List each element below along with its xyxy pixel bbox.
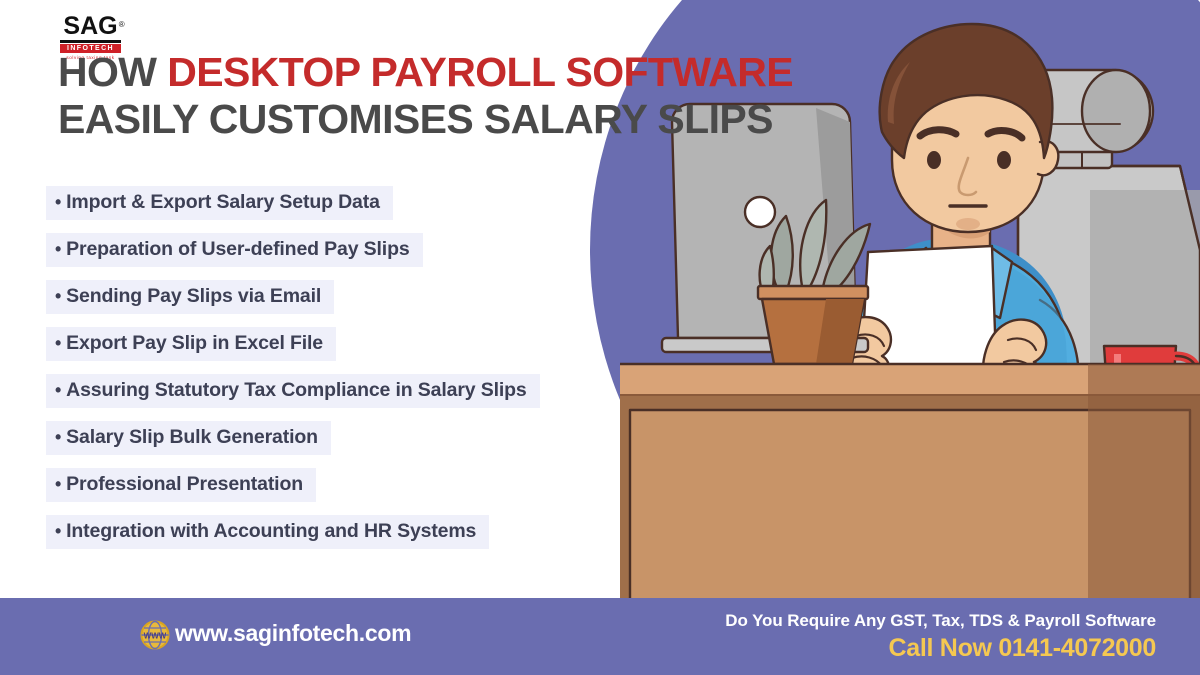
list-item: •Export Pay Slip in Excel File (46, 327, 540, 361)
headline-line-1: HOW DESKTOP PAYROLL SOFTWARE (58, 52, 793, 93)
bullet-dot-icon: • (55, 427, 61, 447)
bullet-label: Professional Presentation (66, 473, 303, 495)
bullet-chip: •Sending Pay Slips via Email (46, 280, 334, 314)
bullet-dot-icon: • (55, 474, 61, 494)
bullet-dot-icon: • (55, 333, 61, 353)
bullet-label: Import & Export Salary Setup Data (66, 191, 380, 213)
bullet-chip: •Professional Presentation (46, 468, 316, 502)
cta-block: Do You Require Any GST, Tax, TDS & Payro… (725, 611, 1156, 663)
feature-bullet-list: •Import & Export Salary Setup Data •Prep… (46, 186, 540, 562)
svg-text:WWW: WWW (144, 631, 167, 640)
globe-www-icon: WWW (140, 620, 170, 655)
list-item: •Integration with Accounting and HR Syst… (46, 515, 540, 549)
headline-plain-text: HOW (58, 49, 167, 95)
bullet-chip: •Export Pay Slip in Excel File (46, 327, 336, 361)
bullet-chip: •Integration with Accounting and HR Syst… (46, 515, 489, 549)
bullet-chip: •Preparation of User-defined Pay Slips (46, 233, 423, 267)
bullet-label: Preparation of User-defined Pay Slips (66, 238, 409, 260)
bullet-label: Integration with Accounting and HR Syste… (66, 520, 476, 542)
bullet-dot-icon: • (55, 286, 61, 306)
list-item: •Assuring Statutory Tax Compliance in Sa… (46, 374, 540, 408)
list-item: •Import & Export Salary Setup Data (46, 186, 540, 220)
list-item: •Sending Pay Slips via Email (46, 280, 540, 314)
bullet-chip: •Salary Slip Bulk Generation (46, 421, 331, 455)
wooden-desk (620, 364, 1200, 600)
bullet-label: Salary Slip Bulk Generation (66, 426, 318, 448)
website-url[interactable]: www.saginfotech.com (175, 620, 411, 647)
bullet-chip: •Assuring Statutory Tax Compliance in Sa… (46, 374, 540, 408)
logo-divider-bar (60, 40, 121, 43)
logo-name-text: SAG (63, 12, 117, 40)
bullet-label: Export Pay Slip in Excel File (66, 332, 323, 354)
list-item: •Professional Presentation (46, 468, 540, 502)
bullet-dot-icon: • (55, 239, 61, 259)
list-item: •Salary Slip Bulk Generation (46, 421, 540, 455)
headline-line-2: EASILY CUSTOMISES SALARY SLIPS (58, 99, 793, 140)
infographic-canvas: HOW DESKTOP PAYROLL SOFTWARE EASILY CUST… (0, 0, 1200, 675)
cta-phone-number[interactable]: Call Now 0141-4072000 (725, 634, 1156, 663)
bullet-dot-icon: • (55, 192, 61, 212)
headline-block: HOW DESKTOP PAYROLL SOFTWARE EASILY CUST… (58, 52, 793, 146)
bullet-label: Assuring Statutory Tax Compliance in Sal… (66, 379, 526, 401)
list-item: •Preparation of User-defined Pay Slips (46, 233, 540, 267)
headline-accent-text: DESKTOP PAYROLL SOFTWARE (167, 49, 793, 95)
cta-question-text: Do You Require Any GST, Tax, TDS & Payro… (725, 611, 1156, 631)
bullet-chip: •Import & Export Salary Setup Data (46, 186, 393, 220)
bullet-dot-icon: • (55, 380, 61, 400)
registered-trademark-icon: ® (119, 13, 125, 37)
bullet-label: Sending Pay Slips via Email (66, 285, 321, 307)
bullet-dot-icon: • (55, 521, 61, 541)
logo-wordmark: SAG® (63, 14, 117, 38)
